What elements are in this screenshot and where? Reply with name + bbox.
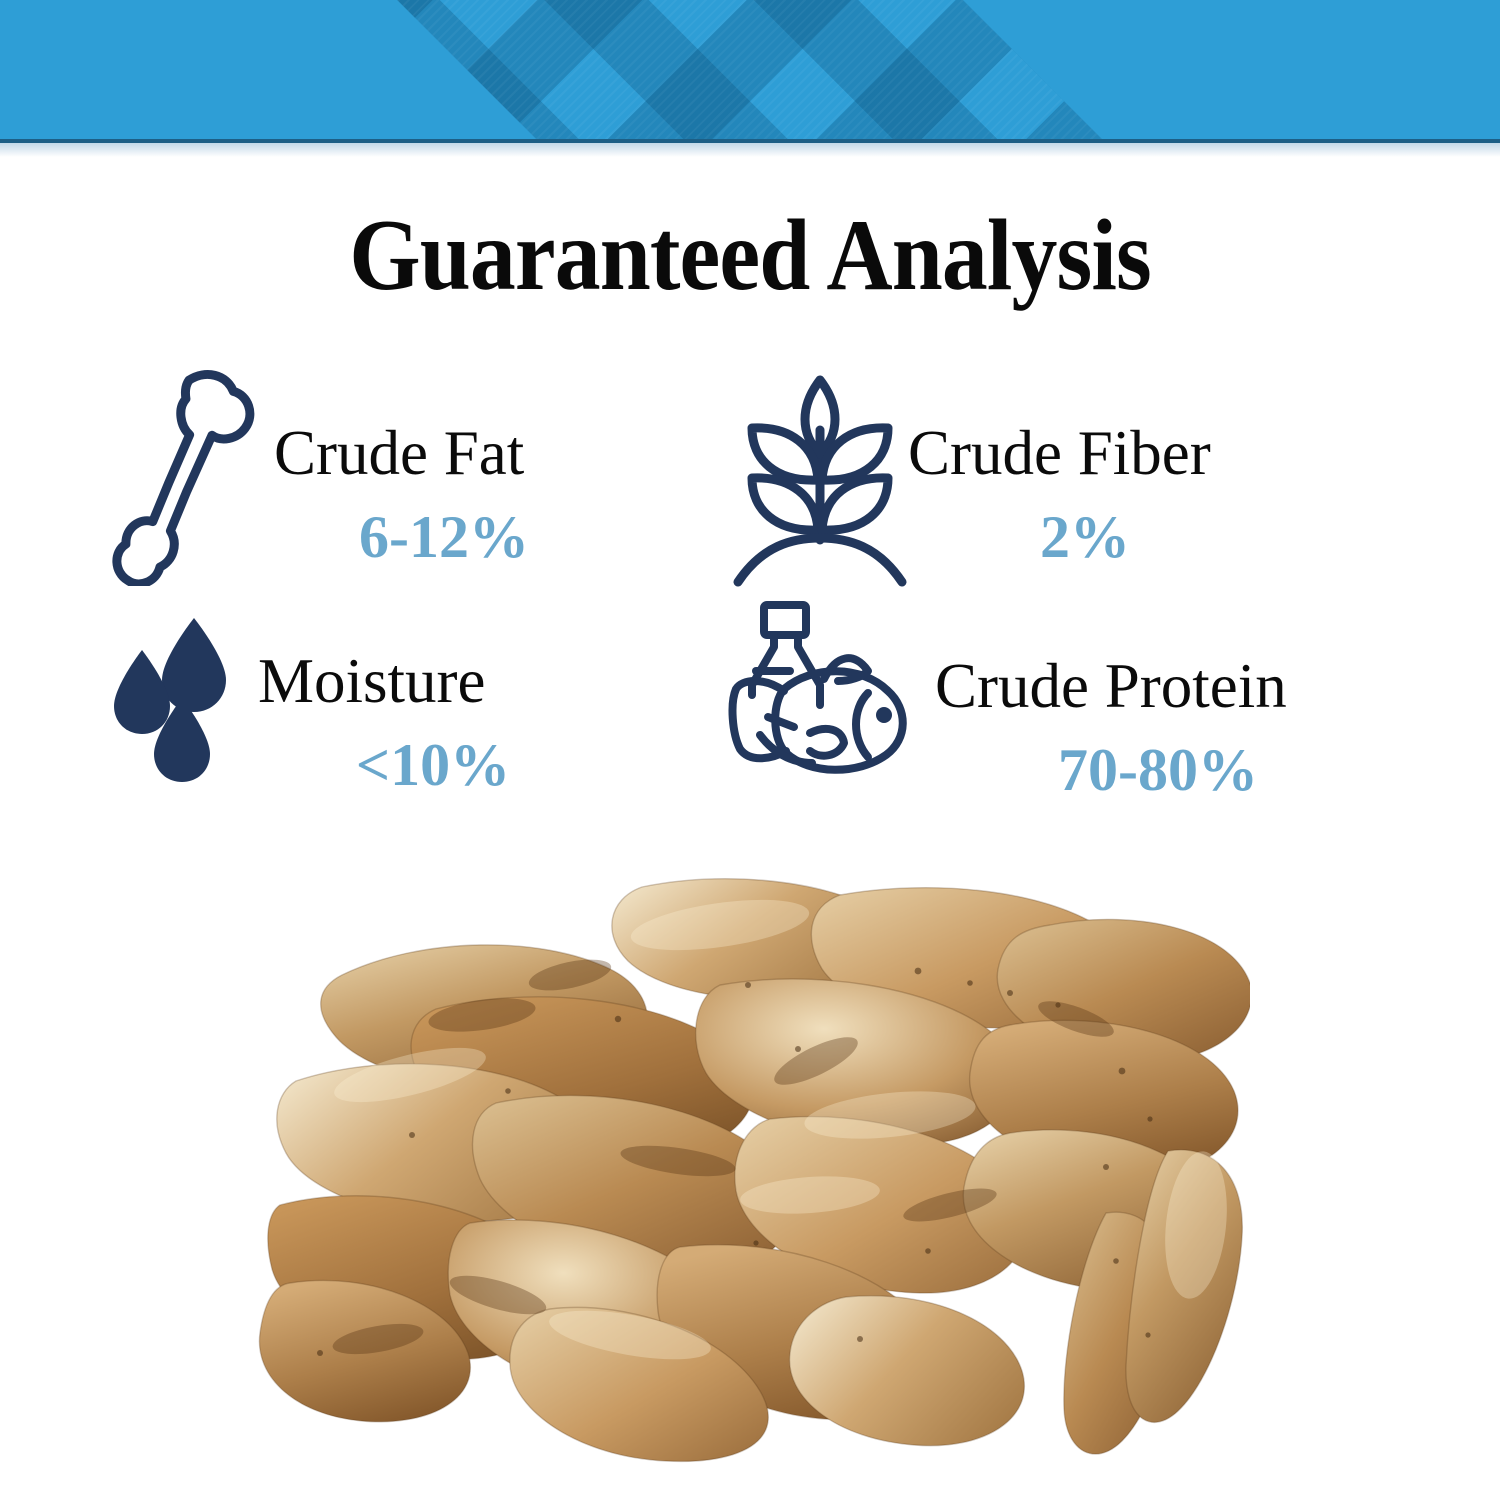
page-title: Guaranteed Analysis [75,205,1425,307]
stat-text-block: Crude Fiber 2% [908,422,1338,567]
stat-crude-protein: Crude Protein 70-80% [710,595,1350,830]
plaid-thread-texture [0,0,1500,142]
stat-label: Moisture [258,650,568,713]
wheat-plant-icon [730,368,910,595]
stat-value: 2% [908,507,1338,567]
stat-text-block: Crude Fat 6-12% [274,422,624,567]
plaid-pattern [0,0,1500,142]
guaranteed-analysis-grid: Crude Fat 6-12% [70,360,1450,830]
stat-value: 6-12% [274,507,624,567]
stat-crude-fiber: Crude Fiber 2% [710,360,1350,595]
header-plaid-banner [0,0,1500,142]
stat-value: <10% [258,735,568,795]
header-drop-shadow [0,143,1500,157]
stat-label: Crude Protein [935,655,1425,718]
fish-bottle-icon [728,599,928,794]
stat-label: Crude Fiber [908,422,1338,485]
stat-value: 70-80% [935,740,1425,800]
stat-text-block: Crude Protein 70-80% [935,655,1425,800]
product-photo-dog-chews [250,865,1250,1470]
stat-text-block: Moisture <10% [258,650,568,795]
stat-label: Crude Fat [274,422,624,485]
stat-crude-fat: Crude Fat 6-12% [90,360,730,595]
stat-moisture: Moisture <10% [90,608,730,843]
water-droplets-icon [110,614,250,799]
bone-icon [100,366,270,591]
